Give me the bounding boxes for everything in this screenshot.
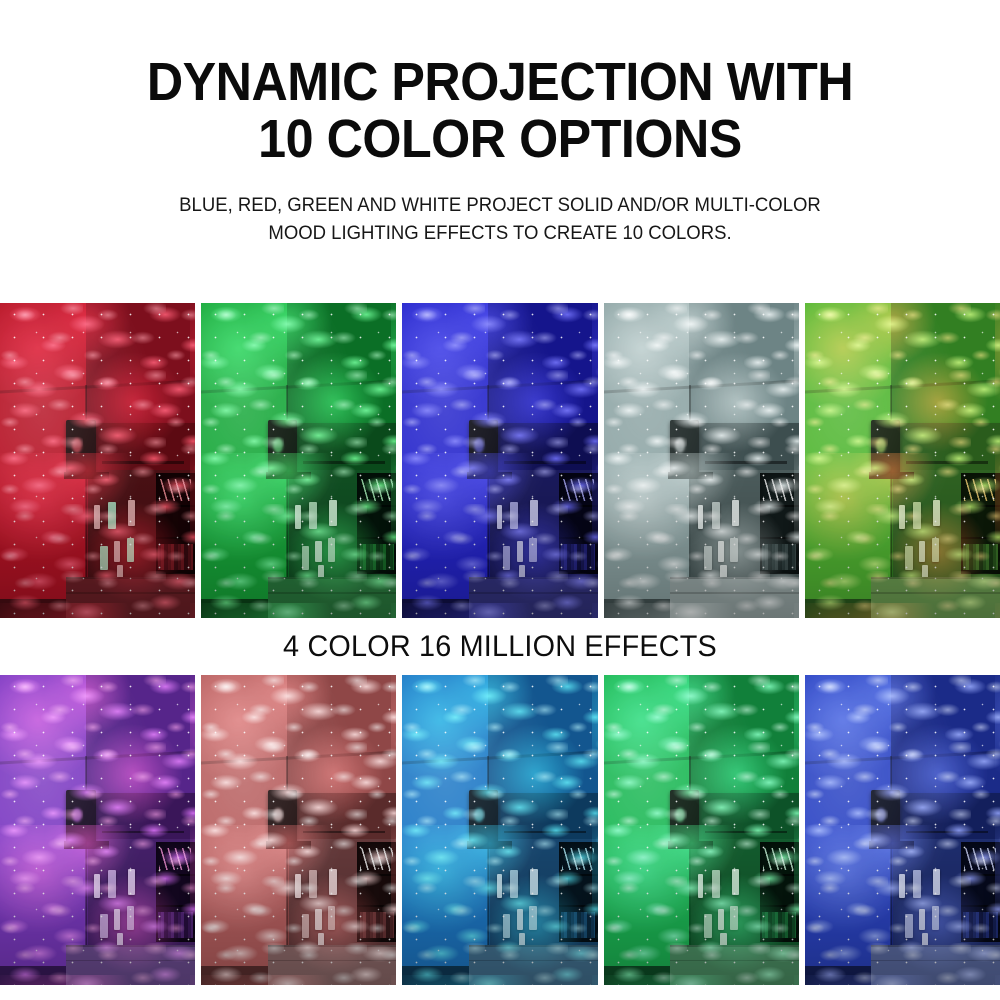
room-scene bbox=[402, 675, 597, 985]
page-title: DYNAMIC PROJECTION WITH 10 COLOR OPTIONS bbox=[35, 56, 965, 166]
subtitle: BLUE, RED, GREEN AND WHITE PROJECT SOLID… bbox=[25, 192, 975, 247]
room-scene bbox=[604, 675, 799, 985]
projection-photo-purple[interactable] bbox=[0, 675, 195, 985]
room-scene bbox=[805, 675, 1000, 985]
headline-line-1: DYNAMIC PROJECTION WITH bbox=[35, 56, 965, 109]
gallery-caption-text: 4 COLOR 16 MILLION EFFECTS bbox=[283, 630, 717, 664]
light-falloff-layer bbox=[604, 675, 799, 985]
subtitle-line-1: BLUE, RED, GREEN AND WHITE PROJECT SOLID… bbox=[25, 192, 975, 220]
projection-photo-blue[interactable] bbox=[402, 303, 597, 618]
room-scene bbox=[201, 675, 396, 985]
projection-photo-green[interactable] bbox=[201, 303, 396, 618]
room-scene bbox=[402, 303, 597, 618]
light-falloff-layer bbox=[805, 675, 1000, 985]
projection-photo-blue[interactable] bbox=[805, 675, 1000, 985]
product-banner-page: DYNAMIC PROJECTION WITH 10 COLOR OPTIONS… bbox=[0, 0, 1000, 1000]
projection-photo-green[interactable] bbox=[604, 675, 799, 985]
room-scene bbox=[805, 303, 1000, 618]
light-falloff-layer bbox=[201, 303, 396, 618]
projection-photo-white[interactable] bbox=[604, 303, 799, 618]
headline-line-2: 10 COLOR OPTIONS bbox=[35, 113, 965, 166]
light-falloff-layer bbox=[402, 675, 597, 985]
light-falloff-layer bbox=[402, 303, 597, 618]
subtitle-line-2: MOOD LIGHTING EFFECTS TO CREATE 10 COLOR… bbox=[25, 220, 975, 248]
projection-photo-red[interactable] bbox=[0, 303, 195, 618]
light-falloff-layer bbox=[805, 303, 1000, 618]
light-falloff-layer bbox=[0, 675, 195, 985]
header-block: DYNAMIC PROJECTION WITH 10 COLOR OPTIONS… bbox=[0, 0, 1000, 247]
gallery-caption-band: 4 COLOR 16 MILLION EFFECTS bbox=[0, 618, 1000, 675]
projection-photo-cyan-blue[interactable] bbox=[402, 675, 597, 985]
projection-photo-green-red-multi-color[interactable] bbox=[805, 303, 1000, 618]
room-scene bbox=[0, 303, 195, 618]
light-falloff-layer bbox=[0, 303, 195, 618]
projection-photo-red-and-white[interactable] bbox=[201, 675, 396, 985]
light-falloff-layer bbox=[201, 675, 396, 985]
gallery-solid-color-row bbox=[0, 303, 1000, 618]
gallery-multi-color-row bbox=[0, 675, 1000, 985]
room-scene bbox=[0, 675, 195, 985]
room-scene bbox=[201, 303, 396, 618]
light-falloff-layer bbox=[604, 303, 799, 618]
room-scene bbox=[604, 303, 799, 618]
